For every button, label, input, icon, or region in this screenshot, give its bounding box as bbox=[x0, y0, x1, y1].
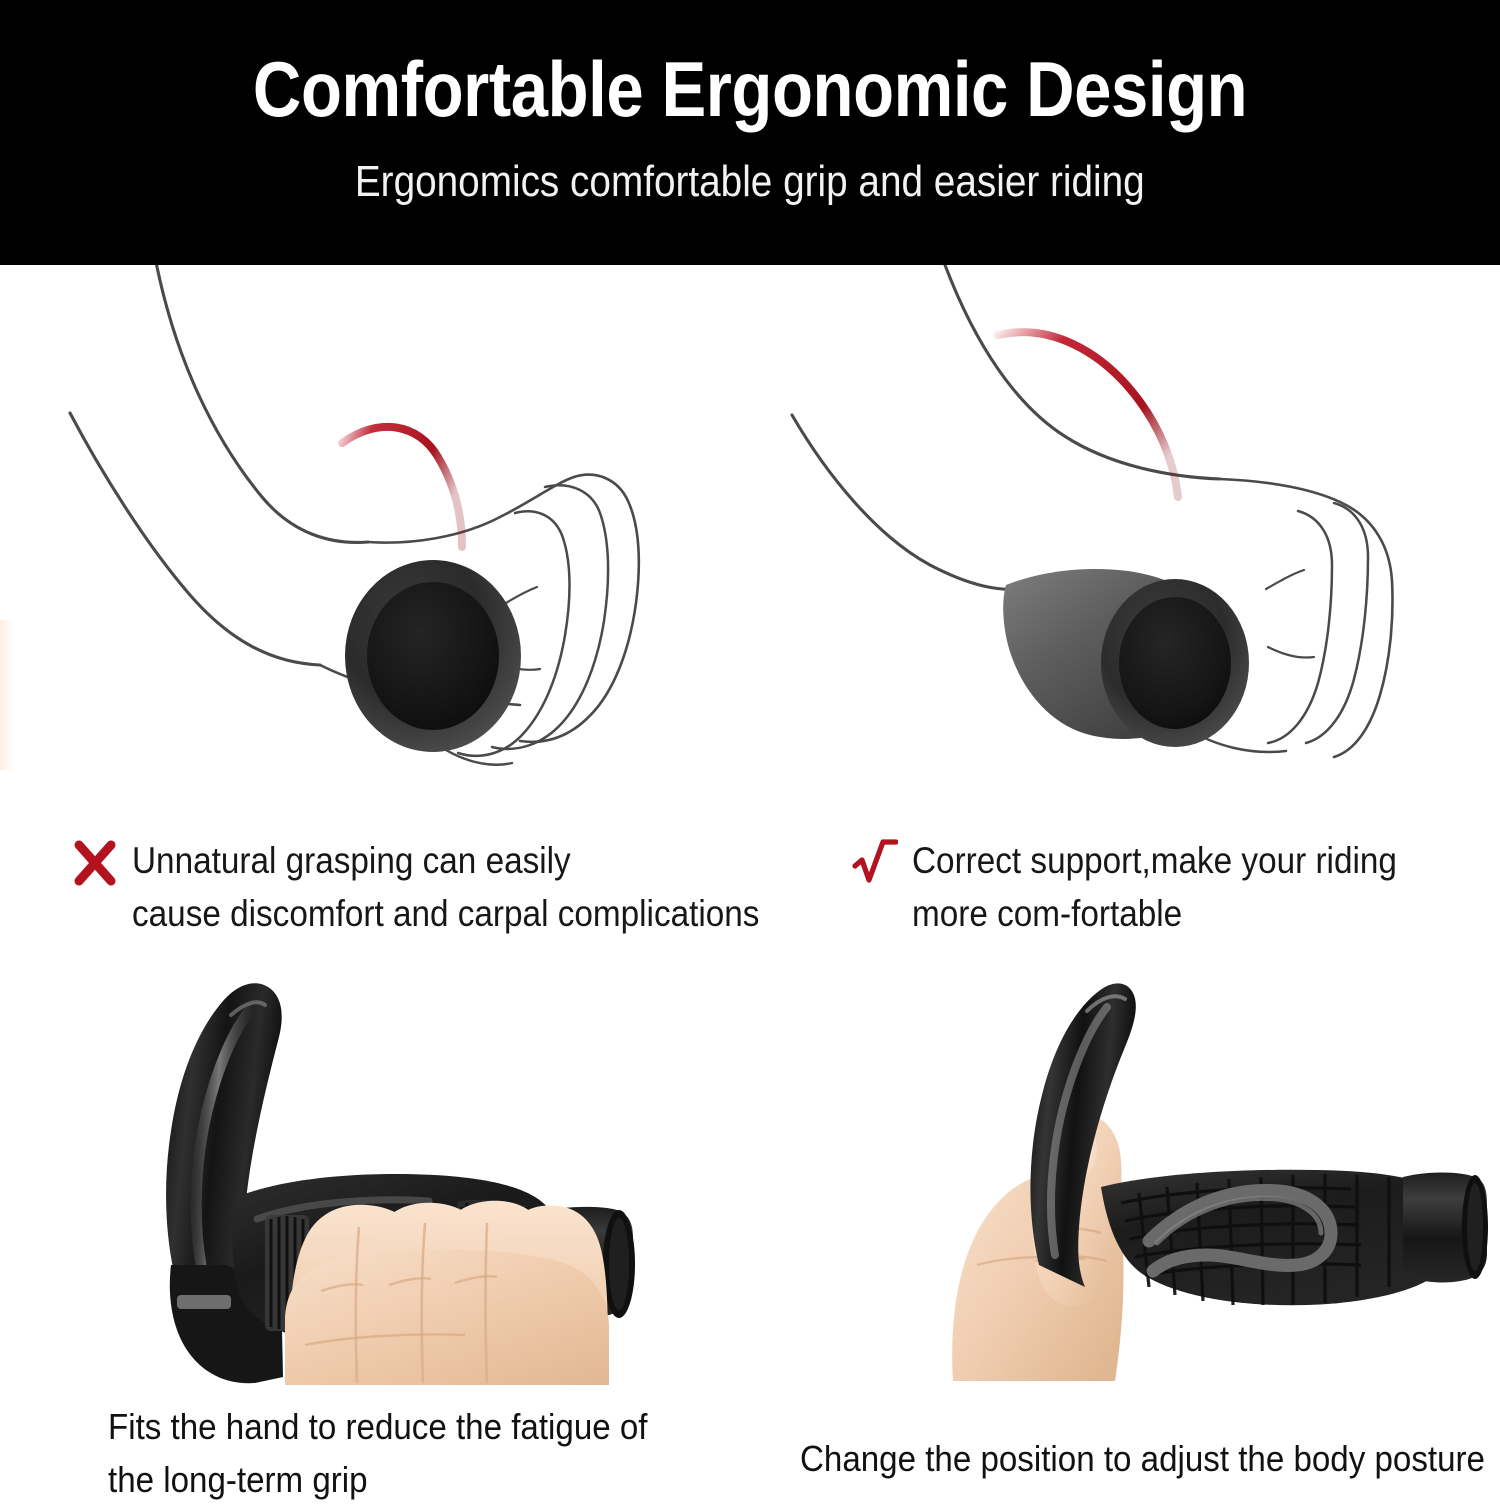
comparison-caption-incorrect-text: Unnatural grasping can easily cause disc… bbox=[132, 835, 759, 940]
comparison-caption-correct-text: Correct support,make your riding more co… bbox=[912, 835, 1397, 940]
content-area: Unnatural grasping can easily cause disc… bbox=[0, 265, 1500, 1486]
photo-caption-row: Fits the hand to reduce the fatigue of t… bbox=[0, 1385, 1500, 1486]
page-subtitle: Ergonomics comfortable grip and easier r… bbox=[355, 160, 1145, 204]
illustration-incorrect-grip bbox=[0, 265, 750, 835]
photo-hand-on-grip-side bbox=[935, 965, 1495, 1385]
photo-caption-left: Fits the hand to reduce the fatigue of t… bbox=[108, 1401, 647, 1506]
illustration-row bbox=[0, 265, 1500, 835]
header-banner: Comfortable Ergonomic Design Ergonomics … bbox=[0, 0, 1500, 265]
comparison-caption-correct: Correct support,make your riding more co… bbox=[852, 835, 1472, 940]
photo-hand-on-grip-front bbox=[105, 965, 725, 1385]
check-mark-icon bbox=[852, 837, 898, 889]
illustration-correct-grip bbox=[750, 265, 1500, 835]
page-title: Comfortable Ergonomic Design bbox=[253, 50, 1247, 128]
photo-caption-right: Change the position to adjust the body p… bbox=[800, 1433, 1485, 1486]
cross-mark-icon bbox=[72, 837, 118, 889]
product-photo-row bbox=[0, 965, 1500, 1385]
comparison-caption-row: Unnatural grasping can easily cause disc… bbox=[0, 835, 1500, 980]
comparison-caption-incorrect: Unnatural grasping can easily cause disc… bbox=[72, 835, 862, 940]
